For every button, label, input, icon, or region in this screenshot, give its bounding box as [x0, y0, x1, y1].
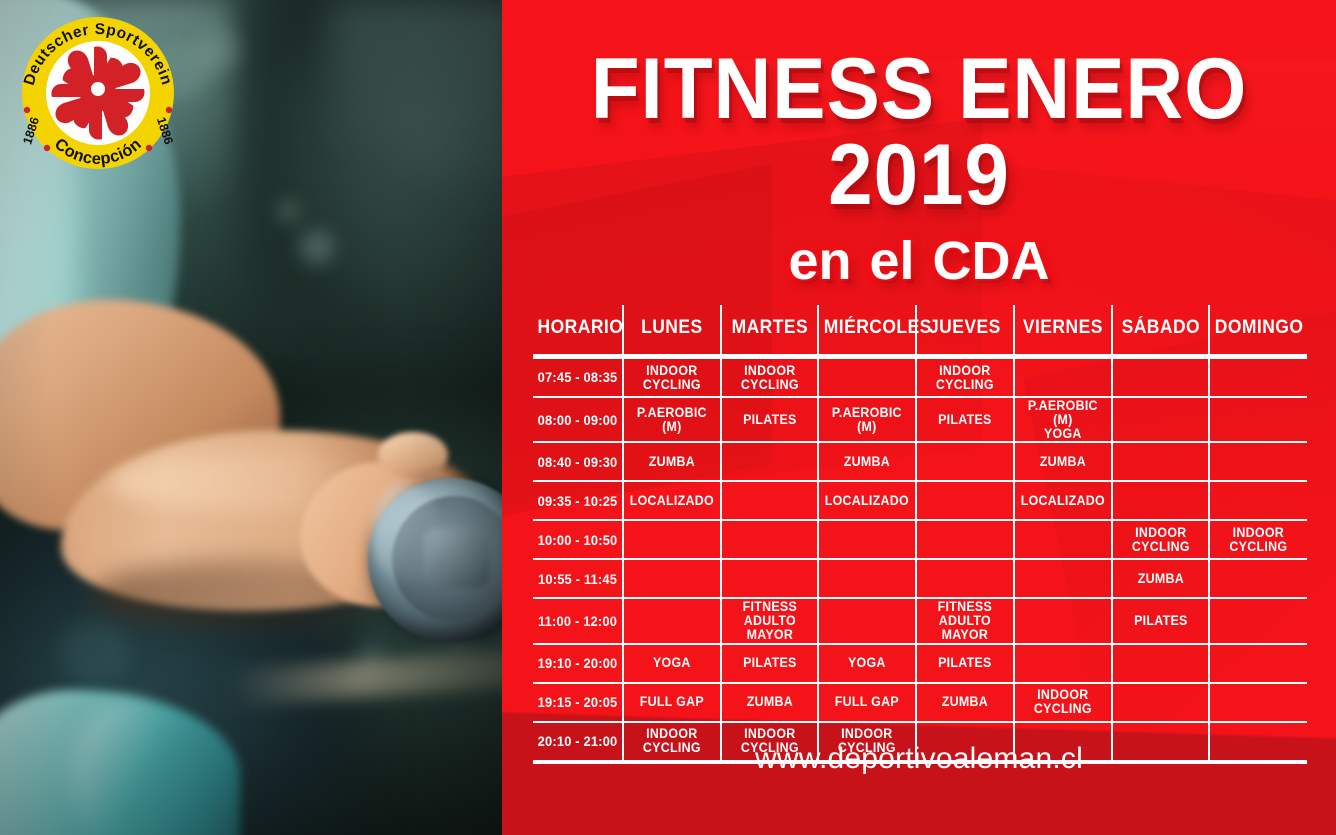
- table-row: 08:00 - 09:00P.AEROBIC (M)PILATESP.AEROB…: [533, 397, 1307, 442]
- class-name: LOCALIZADO: [629, 494, 715, 508]
- class-cell: [1115, 481, 1205, 520]
- class-cell: LOCALIZADO: [627, 481, 717, 520]
- time-slot-cell: 10:00 - 10:50: [537, 520, 620, 559]
- logo-dot: [166, 107, 172, 113]
- class-cell: [725, 442, 815, 481]
- class-name: YOGA: [629, 656, 715, 670]
- class-cell: [1018, 559, 1108, 598]
- class-cell: [920, 442, 1010, 481]
- class-cell: FULL GAP: [627, 683, 717, 722]
- class-cell: YOGA: [627, 644, 717, 683]
- class-cell: ZUMBA: [725, 683, 815, 722]
- schedule-table: HORARIOLUNESMARTESMIÉRCOLESJUEVESVIERNES…: [533, 305, 1307, 764]
- table-row: 10:55 - 11:45ZUMBA: [533, 559, 1307, 598]
- class-cell: [1115, 357, 1205, 398]
- class-cell: INDOOR CYCLING: [1018, 683, 1108, 722]
- class-cell: [1115, 442, 1205, 481]
- class-cell: INDOOR CYCLING: [920, 357, 1010, 398]
- class-name: ZUMBA: [922, 695, 1008, 709]
- logo-center-dot: [91, 82, 105, 96]
- class-cell: ZUMBA: [627, 442, 717, 481]
- class-name: ZUMBA: [629, 455, 715, 469]
- column-header-horario: HORARIO: [537, 305, 620, 357]
- table-row: 09:35 - 10:25LOCALIZADOLOCALIZADOLOCALIZ…: [533, 481, 1307, 520]
- class-name: P.AEROBIC (M): [1020, 399, 1106, 427]
- class-cell: [822, 520, 912, 559]
- class-name: ADULTO MAYOR: [922, 614, 1008, 642]
- class-name: P.AEROBIC (M): [629, 406, 715, 434]
- class-cell: YOGA: [822, 644, 912, 683]
- class-name: FITNESS: [726, 600, 812, 614]
- class-name: INDOOR CYCLING: [1020, 688, 1106, 716]
- class-cell: P.AEROBIC (M): [627, 397, 717, 442]
- fitness-schedule-poster: Deutscher Sportverein Concepción 1886 18…: [0, 0, 1336, 835]
- class-name: FULL GAP: [629, 695, 715, 709]
- class-name: LOCALIZADO: [824, 494, 910, 508]
- class-cell: [1018, 644, 1108, 683]
- class-name: ADULTO MAYOR: [726, 614, 812, 642]
- table-row: 11:00 - 12:00FITNESSADULTO MAYORFITNESSA…: [533, 598, 1307, 643]
- class-name: P.AEROBIC (M): [824, 406, 910, 434]
- column-header-domingo: DOMINGO: [1213, 305, 1303, 357]
- schedule-table-body: 07:45 - 08:35INDOOR CYCLINGINDOOR CYCLIN…: [533, 357, 1307, 762]
- logo-dot: [146, 145, 152, 151]
- class-cell: [920, 481, 1010, 520]
- website-url[interactable]: www.deportivoaleman.cl: [502, 742, 1336, 776]
- class-cell: [1018, 357, 1108, 398]
- class-cell: PILATES: [1115, 598, 1205, 643]
- class-cell: [1213, 559, 1303, 598]
- class-cell: [1213, 481, 1303, 520]
- class-cell: [1115, 397, 1205, 442]
- class-name: INDOOR CYCLING: [726, 364, 812, 392]
- class-name: ZUMBA: [1020, 455, 1106, 469]
- time-slot-cell: 11:00 - 12:00: [537, 598, 620, 643]
- class-name: ZUMBA: [726, 695, 812, 709]
- column-header-martes: MARTES: [725, 305, 815, 357]
- poster-body: FITNESS ENERO 2019 enelCDA HORARIOLUNESM…: [502, 0, 1336, 835]
- class-name: ZUMBA: [824, 455, 910, 469]
- class-name: PILATES: [1117, 614, 1203, 628]
- logo-dot: [44, 145, 50, 151]
- class-cell: [822, 357, 912, 398]
- class-cell: PILATES: [725, 644, 815, 683]
- class-cell: FITNESSADULTO MAYOR: [920, 598, 1010, 643]
- class-cell: [1213, 598, 1303, 643]
- class-cell: ZUMBA: [822, 442, 912, 481]
- page-subtitle: enelCDA: [502, 218, 1336, 288]
- class-cell: [1115, 644, 1205, 683]
- class-cell: LOCALIZADO: [822, 481, 912, 520]
- class-cell: FULL GAP: [822, 683, 912, 722]
- class-name: INDOOR CYCLING: [1215, 526, 1302, 554]
- time-slot-cell: 09:35 - 10:25: [537, 481, 620, 520]
- column-header-jueves: JUEVES: [920, 305, 1010, 357]
- class-name: PILATES: [726, 413, 812, 427]
- class-cell: [725, 481, 815, 520]
- class-cell: ZUMBA: [1018, 442, 1108, 481]
- class-cell: INDOOR CYCLING: [1213, 520, 1303, 559]
- class-cell: [627, 520, 717, 559]
- table-row: 10:00 - 10:50INDOOR CYCLINGINDOOR CYCLIN…: [533, 520, 1307, 559]
- logo-svg: Deutscher Sportverein Concepción 1886 18…: [14, 14, 182, 172]
- class-cell: [1213, 357, 1303, 398]
- logo-dot: [24, 107, 30, 113]
- time-slot-cell: 10:55 - 11:45: [537, 559, 620, 598]
- schedule-table-head: HORARIOLUNESMARTESMIÉRCOLESJUEVESVIERNES…: [533, 305, 1307, 357]
- table-row: 19:15 - 20:05FULL GAPZUMBAFULL GAPZUMBAI…: [533, 683, 1307, 722]
- schedule-table-container: HORARIOLUNESMARTESMIÉRCOLESJUEVESVIERNES…: [533, 305, 1307, 764]
- class-name: LOCALIZADO: [1020, 494, 1106, 508]
- time-slot-cell: 19:15 - 20:05: [537, 683, 620, 722]
- column-header-viernes: VIERNES: [1018, 305, 1108, 357]
- class-cell: [1213, 644, 1303, 683]
- class-cell: [920, 520, 1010, 559]
- class-cell: ZUMBA: [920, 683, 1010, 722]
- time-slot-cell: 08:00 - 09:00: [537, 397, 620, 442]
- class-name: INDOOR CYCLING: [922, 364, 1008, 392]
- table-row: 07:45 - 08:35INDOOR CYCLINGINDOOR CYCLIN…: [533, 357, 1307, 398]
- class-cell: [1018, 520, 1108, 559]
- subtitle-word-3: CDA: [929, 234, 1054, 288]
- time-slot-cell: 19:10 - 20:00: [537, 644, 620, 683]
- class-cell: [822, 598, 912, 643]
- class-cell: ZUMBA: [1115, 559, 1205, 598]
- class-cell: P.AEROBIC (M): [822, 397, 912, 442]
- class-cell: [627, 559, 717, 598]
- club-logo: Deutscher Sportverein Concepción 1886 18…: [14, 14, 182, 172]
- class-cell: P.AEROBIC (M)YOGA: [1018, 397, 1108, 442]
- class-cell: INDOOR CYCLING: [1115, 520, 1205, 559]
- class-cell: [1213, 442, 1303, 481]
- class-name: FULL GAP: [824, 695, 910, 709]
- class-name: PILATES: [922, 656, 1008, 670]
- subtitle-word-2: el: [865, 234, 918, 288]
- class-cell: [725, 559, 815, 598]
- class-cell: FITNESSADULTO MAYOR: [725, 598, 815, 643]
- class-name: PILATES: [726, 656, 812, 670]
- class-name: INDOOR CYCLING: [629, 364, 715, 392]
- title-block: FITNESS ENERO 2019 enelCDA: [502, 0, 1336, 288]
- column-header-mircoles: MIÉRCOLES: [822, 305, 912, 357]
- class-cell: PILATES: [725, 397, 815, 442]
- class-cell: INDOOR CYCLING: [627, 357, 717, 398]
- class-cell: [822, 559, 912, 598]
- class-name: INDOOR CYCLING: [1117, 526, 1203, 554]
- class-cell: INDOOR CYCLING: [725, 357, 815, 398]
- class-cell: LOCALIZADO: [1018, 481, 1108, 520]
- class-cell: [725, 520, 815, 559]
- table-row: 08:40 - 09:30ZUMBAZUMBAZUMBA: [533, 442, 1307, 481]
- time-slot-cell: 08:40 - 09:30: [537, 442, 620, 481]
- class-cell: [1213, 397, 1303, 442]
- class-cell: [1018, 598, 1108, 643]
- column-header-sbado: SÁBADO: [1115, 305, 1205, 357]
- class-cell: PILATES: [920, 644, 1010, 683]
- subtitle-word-1: en: [784, 234, 855, 288]
- table-row: 19:10 - 20:00YOGAPILATESYOGAPILATES: [533, 644, 1307, 683]
- time-slot-cell: 07:45 - 08:35: [537, 357, 620, 398]
- class-cell: [1213, 683, 1303, 722]
- class-name: YOGA: [824, 656, 910, 670]
- class-cell: [1115, 683, 1205, 722]
- class-name: YOGA: [1020, 427, 1106, 441]
- class-name: PILATES: [922, 413, 1008, 427]
- class-cell: [627, 598, 717, 643]
- class-cell: [920, 559, 1010, 598]
- page-title: FITNESS ENERO 2019: [531, 0, 1307, 218]
- column-header-lunes: LUNES: [627, 305, 717, 357]
- table-header-row: HORARIOLUNESMARTESMIÉRCOLESJUEVESVIERNES…: [533, 305, 1307, 357]
- class-name: FITNESS: [922, 600, 1008, 614]
- class-cell: PILATES: [920, 397, 1010, 442]
- class-name: ZUMBA: [1117, 572, 1203, 586]
